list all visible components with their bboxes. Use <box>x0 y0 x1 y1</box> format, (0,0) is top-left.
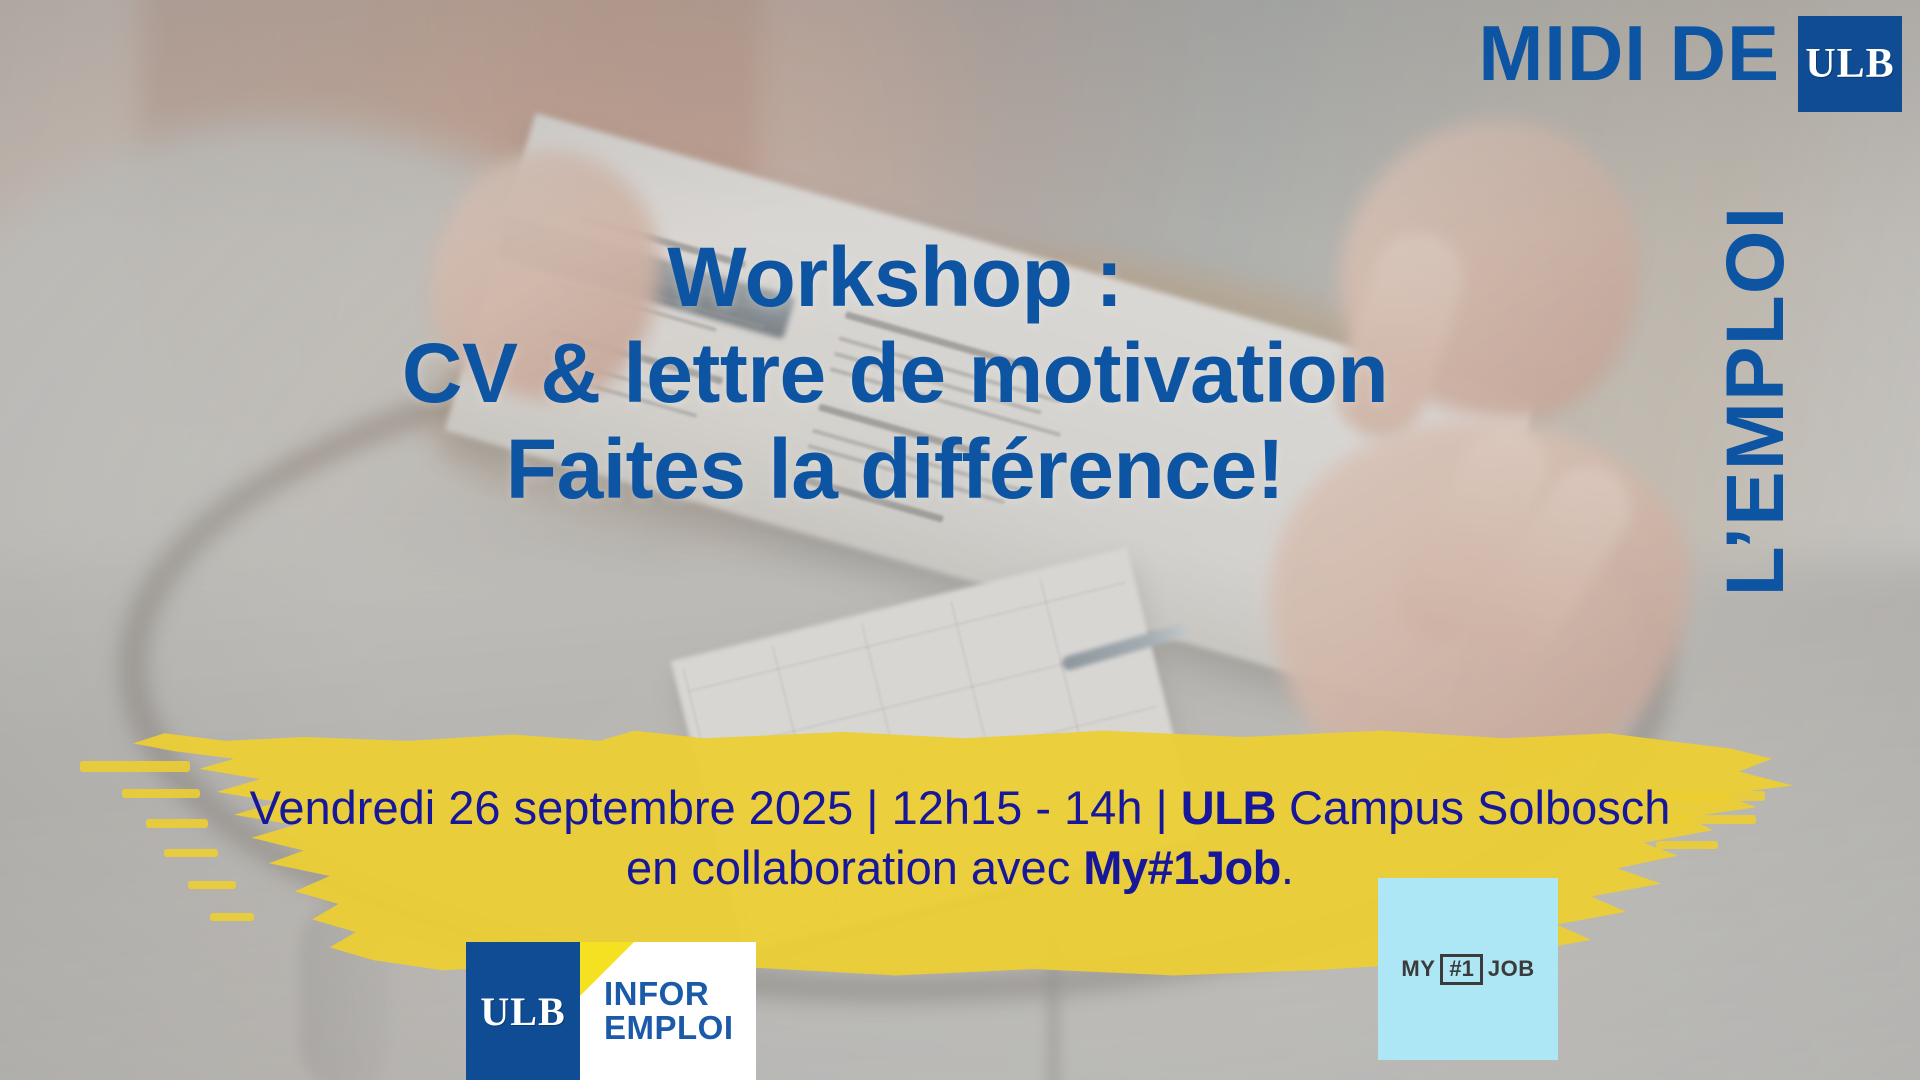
infor-emploi-ulb-mark: ULB <box>466 942 580 1080</box>
infor-emploi-line-2: EMPLOI <box>604 1011 734 1045</box>
event-separator-1: | <box>853 781 891 834</box>
headline-line-2: CV & lettre de motivation <box>0 326 1790 422</box>
event-venue-brand: ULB <box>1181 781 1276 834</box>
infor-emploi-ulb-text: ULB <box>480 988 565 1035</box>
collab-prefix: en collaboration avec <box>626 841 1083 894</box>
infor-emploi-line-1: INFOR <box>604 977 734 1011</box>
my1job-word-my: MY <box>1401 956 1435 982</box>
event-time: 12h15 - 14h <box>892 781 1143 834</box>
infor-emploi-lines: INFOR EMPLOI <box>604 977 734 1045</box>
infor-emploi-wordmark: INFOR EMPLOI <box>580 942 756 1080</box>
my1job-word-job: JOB <box>1488 956 1535 982</box>
ulb-logo-text: ULB <box>1805 40 1894 88</box>
my1job-logo: MY #1 JOB <box>1378 878 1558 1060</box>
collab-partner-name: My#1Job <box>1083 841 1281 894</box>
page-title: Workshop : CV & lettre de motivation Fai… <box>0 230 1790 517</box>
event-venue-name: Campus Solbosch <box>1276 781 1670 834</box>
ulb-infor-emploi-logo: ULB INFOR EMPLOI <box>466 942 756 1080</box>
headline-line-1: Workshop : <box>0 230 1790 326</box>
event-collaboration: en collaboration avec My#1Job. <box>0 838 1920 898</box>
event-when-where: Vendredi 26 septembre 2025 | 12h15 - 14h… <box>0 778 1920 838</box>
poster-canvas: MIDI DE ULB L’EMPLOI Workshop : CV & let… <box>0 0 1920 1080</box>
collab-suffix: . <box>1281 841 1294 894</box>
series-title: MIDI DE <box>1478 14 1780 92</box>
event-separator-2: | <box>1142 781 1180 834</box>
event-date: Vendredi 26 septembre 2025 <box>250 781 854 834</box>
headline-line-3: Faites la différence! <box>0 422 1790 518</box>
my1job-hash-badge: #1 <box>1440 954 1482 985</box>
event-details: Vendredi 26 septembre 2025 | 12h15 - 14h… <box>0 778 1920 898</box>
ulb-logo-badge: ULB <box>1798 16 1902 112</box>
